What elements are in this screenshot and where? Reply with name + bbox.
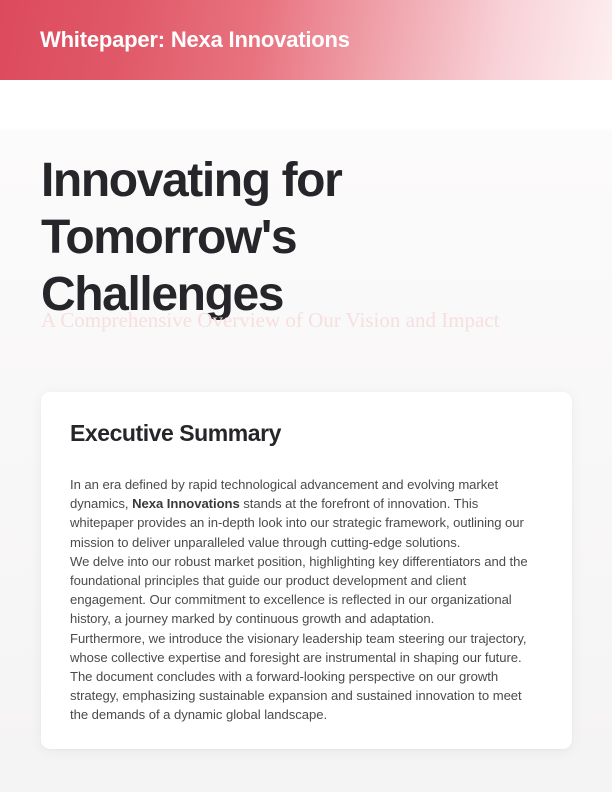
document-page: Whitepaper: Nexa Innovations Innovating … xyxy=(0,0,612,792)
page-title: Innovating for Tomorrow's Challenges xyxy=(41,152,371,323)
hero-section: Innovating for Tomorrow's Challenges A C… xyxy=(41,152,571,323)
summary-paragraph-1: In an era defined by rapid technological… xyxy=(70,475,543,552)
executive-summary-card: Executive Summary In an era defined by r… xyxy=(41,392,572,749)
document-header-title: Whitepaper: Nexa Innovations xyxy=(40,0,350,80)
summary-paragraph-3: Furthermore, we introduce the visionary … xyxy=(70,629,543,667)
summary-paragraph-4: The document concludes with a forward-lo… xyxy=(70,667,543,725)
summary-paragraph-2: We delve into our robust market position… xyxy=(70,552,543,629)
executive-summary-body: In an era defined by rapid technological… xyxy=(70,475,543,725)
document-header-banner: Whitepaper: Nexa Innovations xyxy=(0,0,612,80)
page-subtitle: A Comprehensive Overview of Our Vision a… xyxy=(41,308,601,332)
company-name-highlight: Nexa Innovations xyxy=(132,496,240,511)
executive-summary-heading: Executive Summary xyxy=(70,420,543,447)
